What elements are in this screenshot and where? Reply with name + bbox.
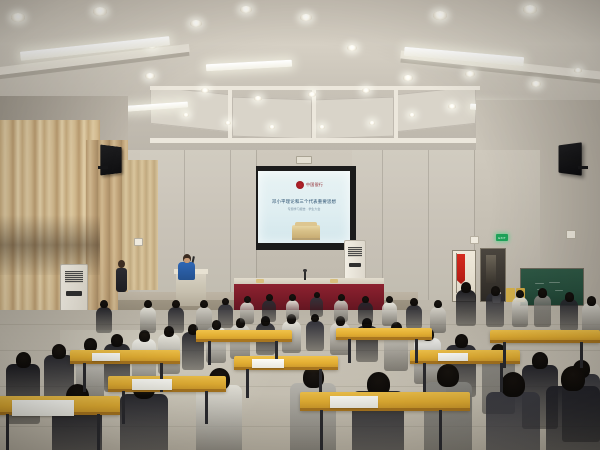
desk-rows <box>0 0 600 450</box>
desk-leg <box>208 341 211 365</box>
paper-handout <box>438 353 468 361</box>
desk-leg <box>97 414 100 450</box>
desk-edge <box>70 361 180 364</box>
lecture-hall-photo: 中国银行 邓小平理论和三个代表重要思想 专题学习报告 · 学生大会 EXIT <box>0 0 600 450</box>
paper-handout <box>12 400 74 416</box>
desk-leg <box>320 410 323 450</box>
desk-leg <box>122 391 125 424</box>
desk-edge <box>234 367 338 370</box>
desk-leg <box>246 369 249 398</box>
desk-leg <box>580 342 583 368</box>
desk-leg <box>348 339 351 363</box>
paper-handout <box>132 379 172 390</box>
desk-edge <box>490 340 600 343</box>
paper-handout <box>252 359 284 368</box>
desk-leg <box>205 391 208 424</box>
paper-handout <box>330 396 378 408</box>
desk-leg <box>6 414 9 450</box>
desk-leg <box>415 339 418 363</box>
paper-handout <box>92 353 120 361</box>
desk-edge <box>300 408 470 411</box>
desk-leg <box>503 342 506 368</box>
desk-leg <box>439 410 442 450</box>
desk-leg <box>83 363 86 392</box>
desk-leg <box>423 363 426 392</box>
